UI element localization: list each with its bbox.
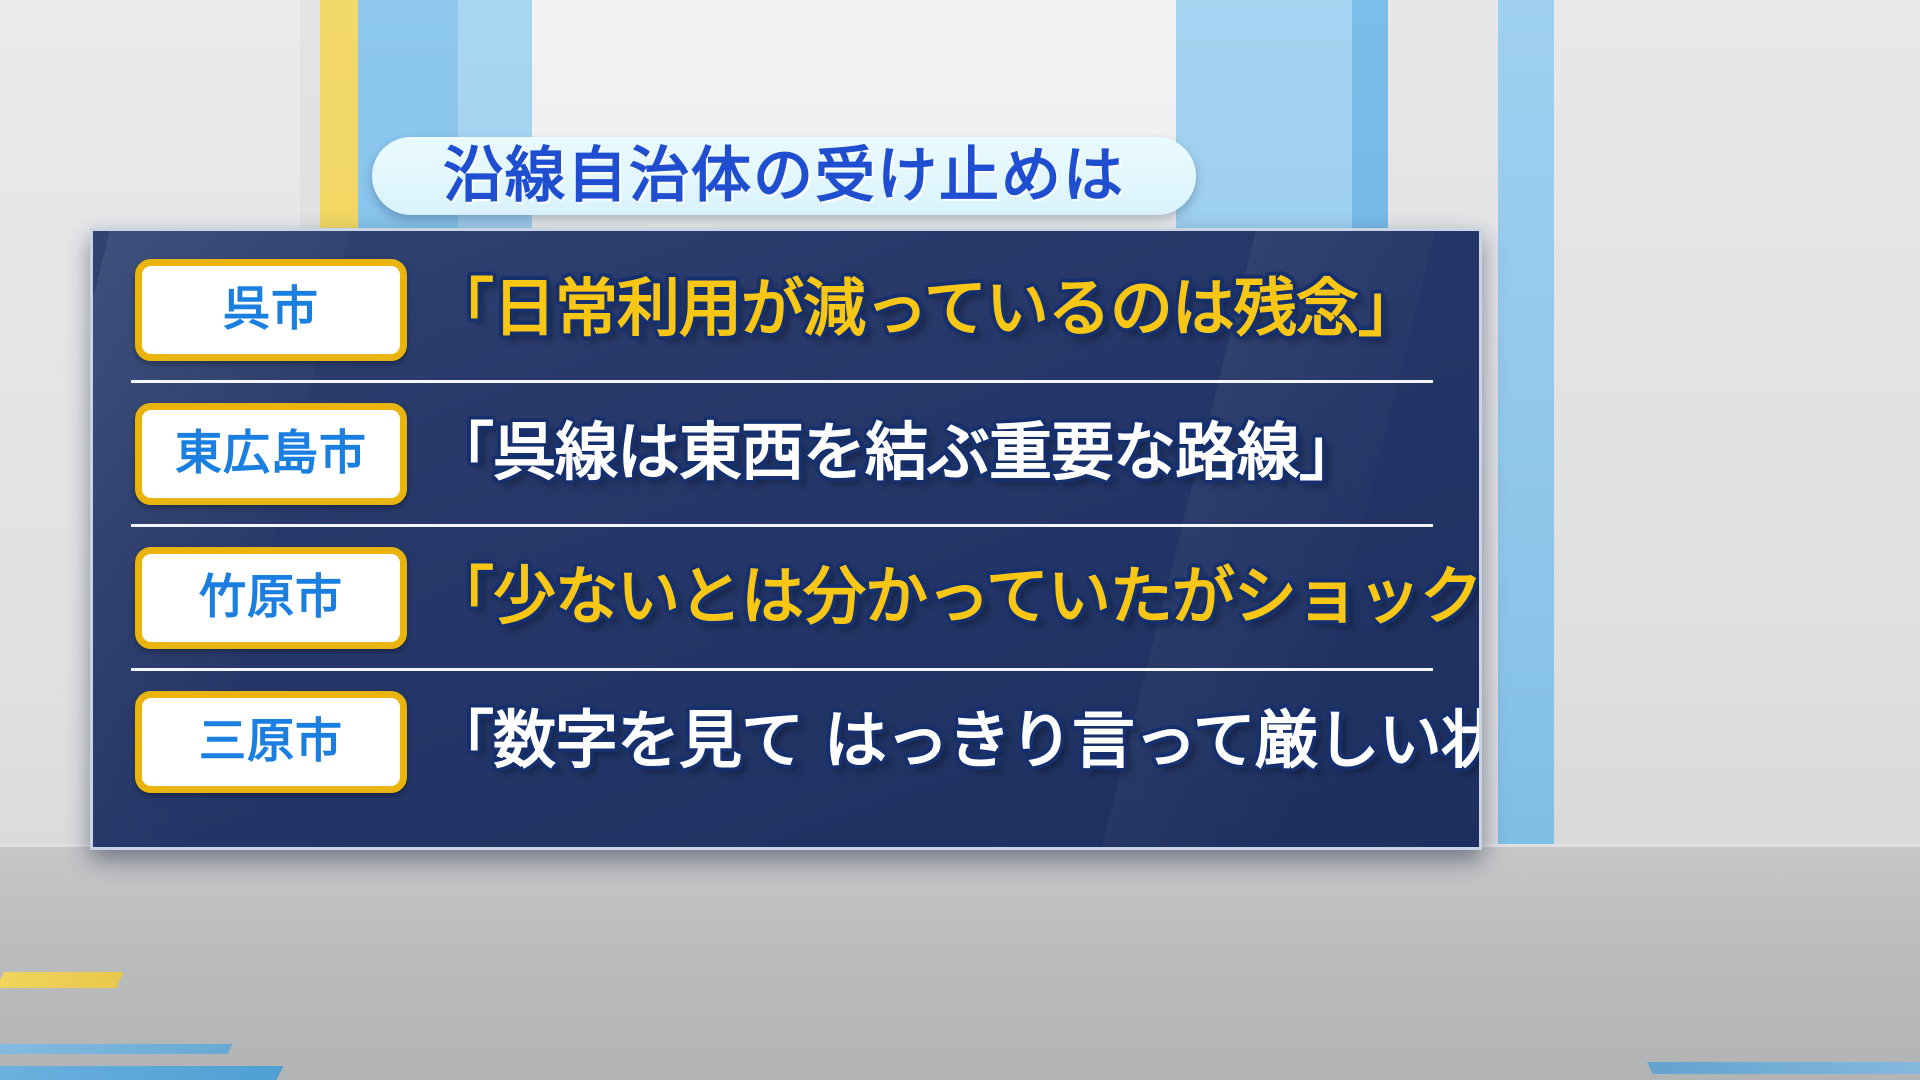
city-label-box: 東広島市	[135, 403, 407, 505]
city-name: 東広島市	[175, 430, 367, 477]
floor-accent-blue-three	[1647, 1062, 1920, 1074]
comment-row: 竹原市 「少ないとは分かっていたがショック」	[93, 527, 1479, 668]
studio-floor	[0, 844, 1920, 1080]
headline-text: 沿線自治体の受け止めは	[443, 146, 1125, 206]
city-name: 三原市	[199, 718, 343, 765]
city-label-box: 竹原市	[135, 547, 407, 649]
city-label-box: 呉市	[135, 259, 407, 361]
city-quote: 「少ないとは分かっていたがショック」	[431, 564, 1482, 630]
city-quote: 「日常利用が減っているのは残念」	[431, 276, 1420, 342]
city-label-box: 三原市	[135, 691, 407, 793]
headline-banner: 沿線自治体の受け止めは	[372, 137, 1196, 215]
city-quote: 「呉線は東西を結ぶ重要な路線」	[431, 420, 1361, 486]
broadcast-graphic-stage: 沿線自治体の受け止めは 呉市 「日常利用が減っているのは残念」 東広島市 「呉線…	[0, 0, 1920, 1080]
comment-row: 三原市 「数字を見て はっきり言って厳しい状況」	[93, 671, 1479, 812]
floor-accent-yellow	[0, 972, 124, 988]
comment-rows: 呉市 「日常利用が減っているのは残念」 東広島市 「呉線は東西を結ぶ重要な路線」…	[93, 239, 1479, 812]
comment-row: 東広島市 「呉線は東西を結ぶ重要な路線」	[93, 383, 1479, 524]
floor-accent-blue-one	[0, 1066, 284, 1080]
city-quote: 「数字を見て はっきり言って厳しい状況」	[431, 708, 1482, 774]
city-name: 呉市	[223, 286, 319, 333]
city-name: 竹原市	[199, 574, 343, 621]
comment-row: 呉市 「日常利用が減っているのは残念」	[93, 239, 1479, 380]
floor-accent-blue-two	[0, 1044, 233, 1054]
comments-board: 呉市 「日常利用が減っているのは残念」 東広島市 「呉線は東西を結ぶ重要な路線」…	[90, 228, 1482, 850]
